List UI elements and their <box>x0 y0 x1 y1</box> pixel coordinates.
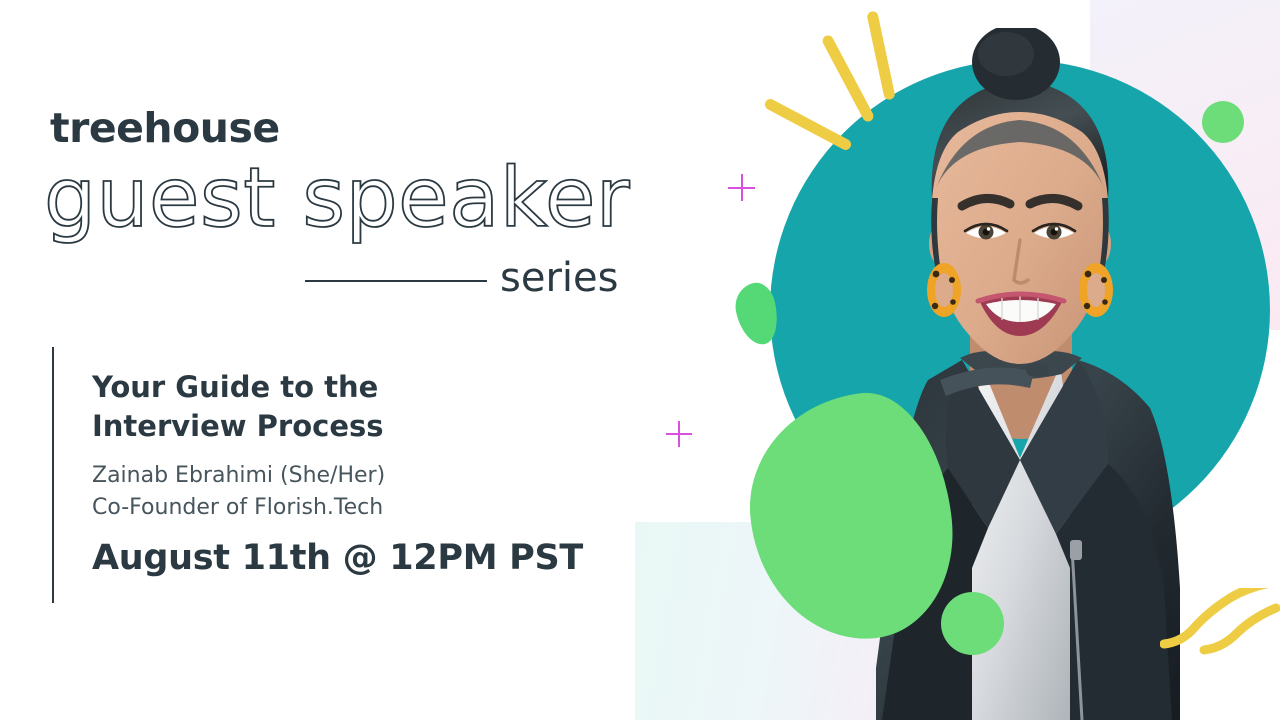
brand-name: treehouse <box>50 108 280 149</box>
series-divider-rule <box>305 280 487 282</box>
guest-speaker-promo-slide: treehouse guest speaker series Your Guid… <box>0 0 1280 720</box>
speaker-role: Co-Founder of Florish.Tech <box>92 492 632 523</box>
series-label: series <box>500 258 618 298</box>
plus-mark-icon <box>728 174 755 201</box>
earring-left-icon <box>927 263 961 317</box>
vertical-accent-rule <box>52 347 54 603</box>
green-circle-top <box>1202 101 1244 143</box>
copy-block: treehouse guest speaker series Your Guid… <box>0 0 660 720</box>
talk-title: Your Guide to the Interview Process <box>92 368 632 446</box>
plus-mark-icon <box>666 421 692 447</box>
green-circle-bottom <box>941 592 1004 655</box>
squiggle-line-icon <box>1160 588 1280 668</box>
speaker-name: Zainab Ebrahimi (She/Her) <box>92 460 632 491</box>
earring-right-icon <box>1079 263 1113 317</box>
headline-outlined: guest speaker <box>44 158 630 240</box>
talk-details: Your Guide to the Interview Process Zain… <box>92 368 632 577</box>
event-datetime: August 11th @ 12PM PST <box>92 539 632 578</box>
